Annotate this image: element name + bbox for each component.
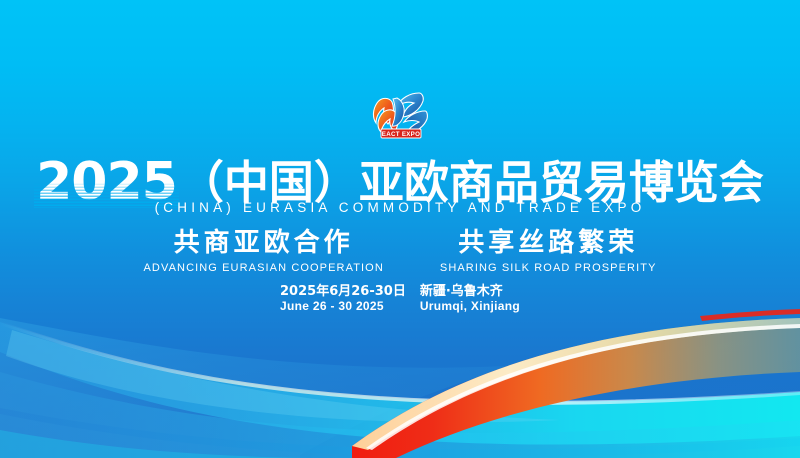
logo-container: EACT EXPO — [0, 88, 800, 140]
event-date: 2025年6月26-30日 June 26 - 30 2025 — [280, 284, 406, 314]
slogan-left-chinese: 共商亚欧合作 — [143, 228, 383, 258]
eact-expo-logo: EACT EXPO — [363, 89, 437, 139]
event-place-chinese: 新疆·乌鲁木齐 — [420, 284, 520, 299]
slogan-row: 共商亚欧合作 ADVANCING EURASIAN COOPERATION 共享… — [0, 228, 800, 275]
event-place-english: Urumqi, Xinjiang — [420, 299, 520, 314]
event-place: 新疆·乌鲁木齐 Urumqi, Xinjiang — [420, 284, 520, 314]
event-meta: 2025年6月26-30日 June 26 - 30 2025 新疆·乌鲁木齐 … — [0, 284, 800, 314]
event-date-chinese: 2025年6月26-30日 — [280, 284, 406, 299]
logo-wordmark-text: EACT EXPO — [382, 131, 420, 138]
title-english: (CHINA) EURASIA COMMODITY AND TRADE EXPO — [0, 200, 800, 215]
expo-banner: EACT EXPO 2025 （中国）亚欧商品贸易博览会 (CHINA) EUR… — [0, 0, 800, 458]
slogan-left-english: ADVANCING EURASIAN COOPERATION — [143, 262, 383, 275]
slogan-right-english: SHARING SILK ROAD PROSPERITY — [440, 262, 657, 275]
slogan-right-chinese: 共享丝路繁荣 — [440, 228, 657, 258]
slogan-left: 共商亚欧合作 ADVANCING EURASIAN COOPERATION — [143, 228, 383, 275]
event-date-english: June 26 - 30 2025 — [280, 299, 406, 314]
slogan-right: 共享丝路繁荣 SHARING SILK ROAD PROSPERITY — [440, 228, 657, 275]
